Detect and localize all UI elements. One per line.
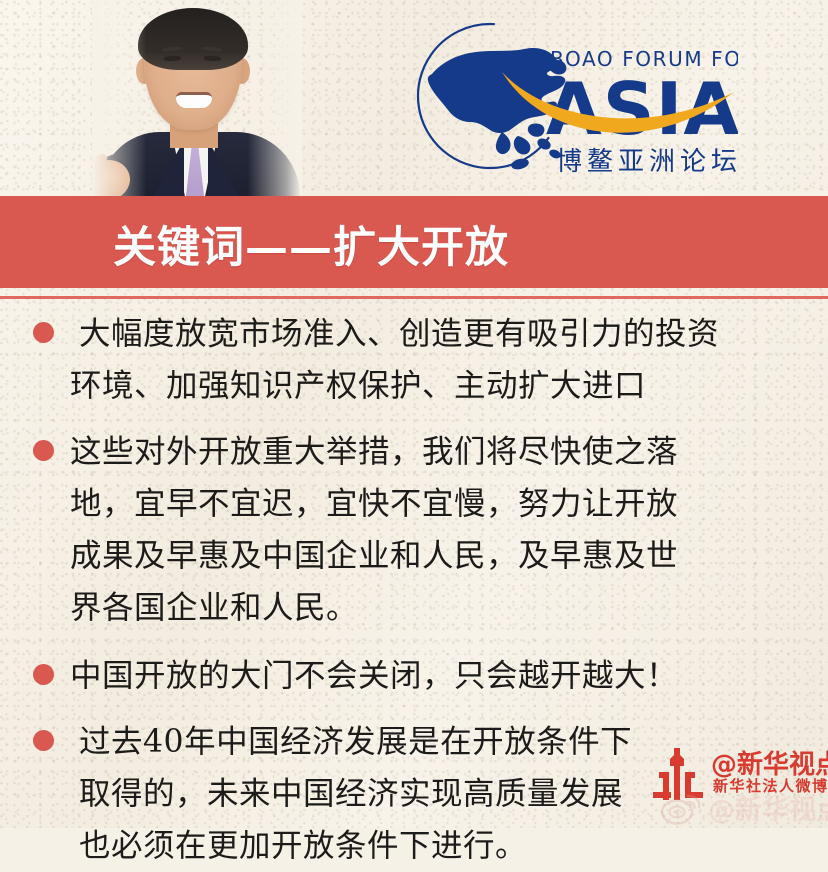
- weibo-ghost-handle: @新华视点: [708, 788, 828, 827]
- bullet-dot-icon: [33, 440, 54, 461]
- header: BOAO FORUM FOR ASIA 博鳌亚洲论坛: [0, 0, 828, 196]
- banner-underline-rule: [0, 296, 828, 299]
- poster-root: BOAO FORUM FOR ASIA 博鳌亚洲论坛 关键词——扩大开放 大幅度…: [0, 0, 828, 828]
- bullet-line: 中国开放的大门不会关闭，只会越开越大！: [70, 650, 804, 702]
- weibo-ghost-watermark: @新华视点: [660, 790, 828, 828]
- boao-forum-logo: BOAO FORUM FOR ASIA 博鳌亚洲论坛: [398, 18, 738, 180]
- bullet-line: 环境、加强知识产权保护、主动扩大进口: [70, 360, 804, 412]
- logo-line-cn: 博鳌亚洲论坛: [556, 147, 738, 177]
- bullet-line: 地，宜早不宜迟，宜快不宜慢，努力让开放: [70, 478, 804, 530]
- portrait-edge-fade: [92, 0, 302, 196]
- list-item: 大幅度放宽市场准入、创造更有吸引力的投资 环境、加强知识产权保护、主动扩大进口: [0, 308, 828, 412]
- bullet-text: 这些对外开放重大举措，我们将尽快使之落 地，宜早不宜迟，宜快不宜慢，努力让开放 …: [70, 426, 828, 634]
- headline-banner: 关键词——扩大开放: [0, 196, 828, 288]
- list-item: 中国开放的大门不会关闭，只会越开越大！: [0, 650, 828, 702]
- bullet-line: 成果及早惠及中国企业和人民，及早惠及世: [70, 530, 804, 582]
- bullet-dot-icon: [33, 730, 54, 751]
- speaker-portrait: [92, 0, 302, 196]
- list-item: 这些对外开放重大举措，我们将尽快使之落 地，宜早不宜迟，宜快不宜慢，努力让开放 …: [0, 426, 828, 634]
- bullet-text: 大幅度放宽市场准入、创造更有吸引力的投资 环境、加强知识产权保护、主动扩大进口: [70, 308, 828, 412]
- bullet-text: 中国开放的大门不会关闭，只会越开越大！: [70, 650, 828, 702]
- headline-title: 关键词——扩大开放: [113, 213, 509, 275]
- weibo-eye-icon: [660, 792, 702, 826]
- logo-line-main: ASIA: [546, 67, 738, 151]
- bullet-dot-icon: [33, 664, 54, 685]
- bullet-dot-icon: [33, 322, 54, 343]
- bullet-line: 界各国企业和人民。: [70, 582, 804, 634]
- bullet-line: 大幅度放宽市场准入、创造更有吸引力的投资: [70, 308, 804, 360]
- bullet-line: 这些对外开放重大举措，我们将尽快使之落: [70, 426, 804, 478]
